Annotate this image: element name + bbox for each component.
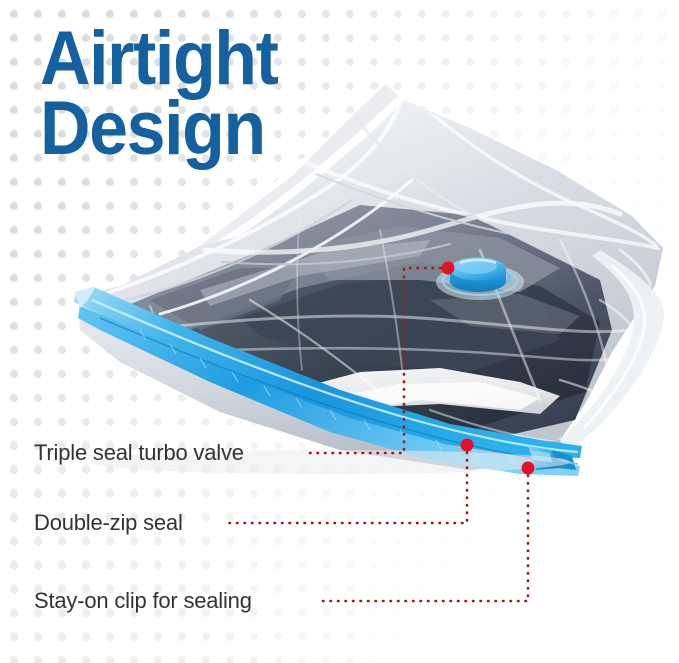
callout-leader-lines (0, 0, 679, 663)
callout-dot-zip (461, 439, 474, 452)
callout-dot-valve (442, 262, 455, 275)
leader-line-valve (303, 268, 448, 453)
callout-dot-clip (522, 462, 535, 475)
leader-line-zip (224, 445, 467, 523)
leader-line-clip (318, 468, 528, 601)
product-feature-image: Airtight Design Triple seal turbo valve … (0, 0, 679, 663)
